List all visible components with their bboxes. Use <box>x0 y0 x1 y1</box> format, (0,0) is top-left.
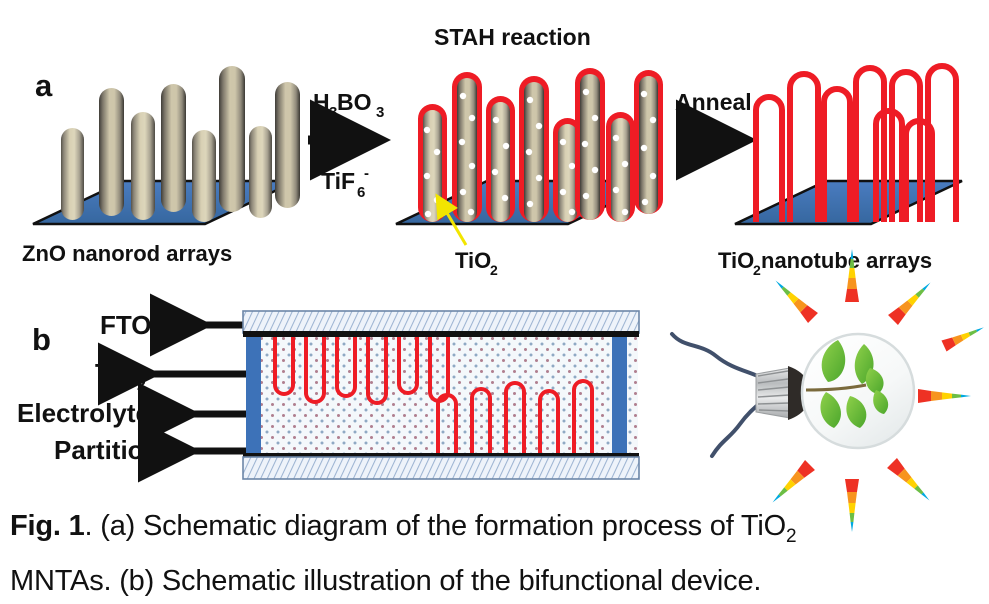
fto-top <box>243 311 639 337</box>
caption-line-2: MNTAs. (b) Schematic illustration of the… <box>10 559 979 603</box>
caption-part-a: . (a) Schematic diagram of the formation… <box>85 510 786 542</box>
zno-rod <box>131 112 155 220</box>
label-tio2-nanotube-arrays-tail: nanotube arrays <box>761 248 932 273</box>
reagent-h3bo3-mid: BO <box>337 89 372 115</box>
bifunctional-device <box>243 311 639 479</box>
label-tio2-stage2: TiO <box>455 248 491 273</box>
bulb-ray <box>888 278 935 325</box>
panel-a-letter: a <box>35 68 53 103</box>
stage-tio2-coated: STAH reaction <box>396 24 663 278</box>
bulb-ray <box>918 389 971 403</box>
bulb-ray <box>941 322 986 351</box>
label-stah-reaction: STAH reaction <box>434 24 591 50</box>
partition-right <box>612 336 627 454</box>
wire-top <box>672 334 762 378</box>
figure-container: a ZnO nanorod arrays <box>0 0 989 604</box>
tio2-coated-rod <box>606 112 635 222</box>
label-tio2-nanotube-arrays: TiO <box>718 248 754 273</box>
reagent-h3bo3-sub2: 3 <box>376 104 384 121</box>
reagent-tif6-main: TiF <box>321 168 355 194</box>
label-zno-nanorod-arrays: ZnO nanorod arrays <box>22 241 232 266</box>
zno-rod <box>99 88 124 216</box>
tio2-coated-rod <box>519 76 549 222</box>
zno-rod <box>275 82 300 208</box>
bulb-ray <box>887 458 934 505</box>
label-electrolyte: Electrolyte <box>17 398 150 428</box>
caption-part-a-sub: 2 <box>786 526 796 547</box>
tio2-coated-rod <box>634 70 663 214</box>
label-tio2-device-sub: 2 <box>137 377 146 394</box>
reaction-arrow-2-group: Anneal <box>675 89 752 140</box>
tio2-coated-rod-group <box>418 68 663 222</box>
label-partition: Partition <box>54 435 159 465</box>
partition-left <box>246 336 261 454</box>
reagent-tif6-sup: - <box>364 165 369 182</box>
caption-line-1: Fig. 1. (a) Schematic diagram of the for… <box>10 504 979 559</box>
caption-bold-prefix: Fig. 1 <box>10 510 85 542</box>
circuit-wires <box>672 334 764 456</box>
reaction-arrow-1-group: H 3 BO 3 TiF 6 - <box>308 89 384 201</box>
panel-a: a ZnO nanorod arrays <box>22 24 962 278</box>
panel-b: b FTO TiO 2 Electrolyte Partition <box>17 249 986 532</box>
zno-rod <box>219 66 245 212</box>
zno-rod <box>61 128 84 220</box>
zno-rod <box>192 130 216 222</box>
label-tio2-stage2-sub: 2 <box>490 262 498 278</box>
tio2-coated-rod <box>575 68 605 220</box>
panel-b-letter: b <box>32 322 51 357</box>
stage-tio2-nanotubes: TiO 2 nanotube arrays <box>718 66 962 278</box>
label-tio2-device: TiO <box>95 358 138 388</box>
label-anneal: Anneal <box>675 89 752 115</box>
bulb-ray <box>771 276 818 323</box>
tio2-coated-rod <box>486 96 515 222</box>
reagent-tif6-sub: 6 <box>357 184 365 201</box>
fto-bottom <box>243 453 639 479</box>
tio2-coated-rod <box>452 72 482 222</box>
label-fto: FTO <box>100 310 152 340</box>
reagent-h3bo3-main: H <box>313 89 330 115</box>
zno-rod <box>161 84 186 212</box>
figure-caption: Fig. 1. (a) Schematic diagram of the for… <box>0 500 989 604</box>
label-tio2-nanotube-arrays-sub: 2 <box>753 262 761 278</box>
zno-rod <box>249 126 272 218</box>
light-bulb <box>756 249 986 532</box>
stage-zno-nanorods: ZnO nanorod arrays <box>22 66 300 266</box>
